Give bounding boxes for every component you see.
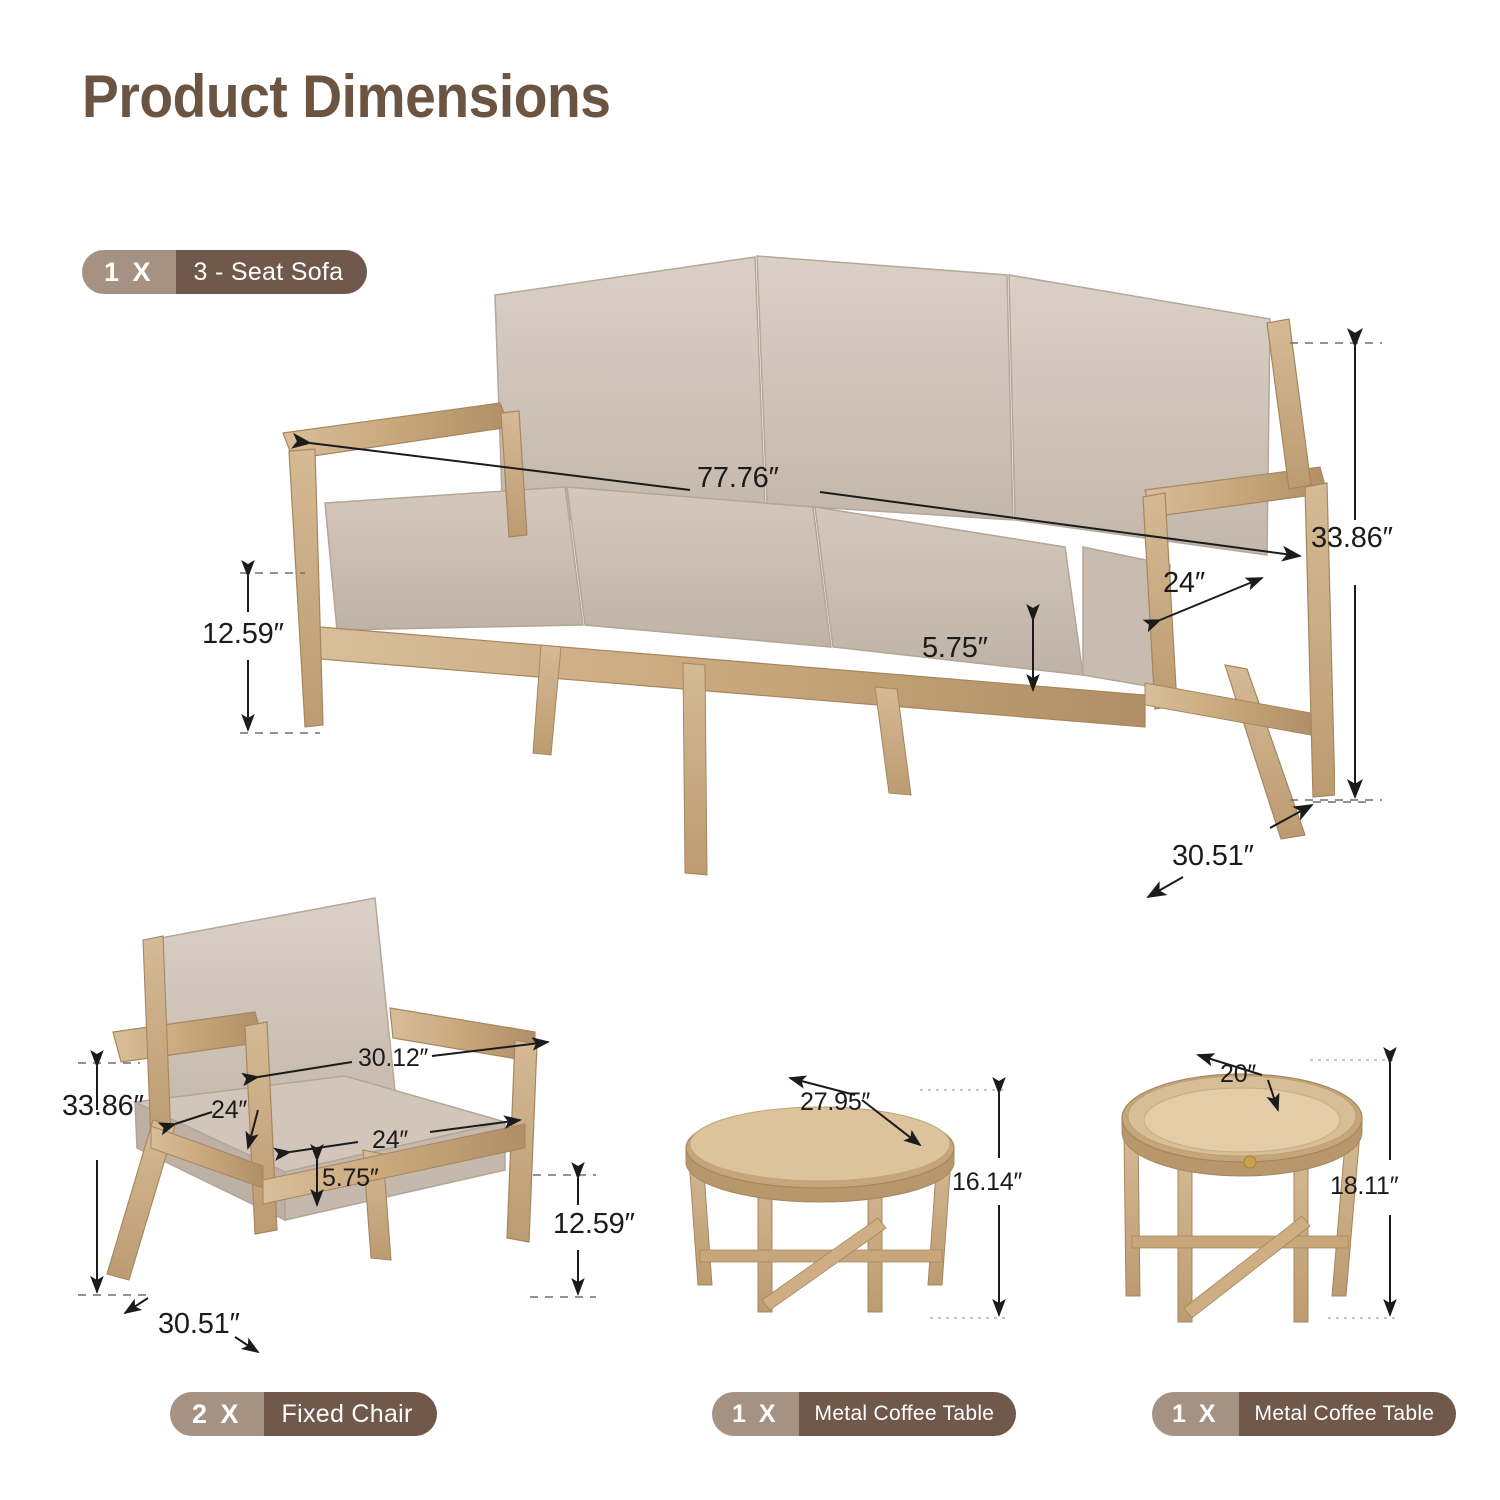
- sofa-height-label: 33.86″: [1311, 522, 1393, 555]
- sofa-illustration: [265, 235, 1335, 895]
- sofa-leg-height-label: 12.59″: [202, 618, 284, 651]
- sofa-width-label: 77.76″: [697, 462, 779, 495]
- badge-coffee-table-qty: 1 X: [712, 1392, 799, 1436]
- chair-cushion-label: 5.75″: [322, 1164, 379, 1193]
- chair-height-label: 33.86″: [62, 1090, 144, 1123]
- chair-width-label: 30.12″: [358, 1044, 428, 1073]
- badge-side-table: 1 X Metal Coffee Table: [1152, 1392, 1456, 1436]
- chair-seat-depth-label: 24″: [211, 1096, 247, 1125]
- badge-side-table-name: Metal Coffee Table: [1239, 1392, 1457, 1436]
- product-dimensions-page: Product Dimensions: [0, 0, 1500, 1500]
- badge-chair-name: Fixed Chair: [264, 1392, 437, 1436]
- badge-chair-qty: 2 X: [170, 1392, 264, 1436]
- chair-depth-label: 30.51″: [158, 1308, 240, 1341]
- badge-sofa-qty: 1 X: [82, 250, 176, 294]
- chair-leg-height-label: 12.59″: [553, 1208, 635, 1241]
- sofa-cushion-label: 5.75″: [922, 632, 988, 665]
- badge-coffee-table: 1 X Metal Coffee Table: [712, 1392, 1016, 1436]
- page-title: Product Dimensions: [82, 62, 610, 131]
- chair-seat-width-label: 24″: [372, 1126, 408, 1155]
- badge-sofa: 1 X 3 - Seat Sofa: [82, 250, 367, 294]
- badge-side-table-qty: 1 X: [1152, 1392, 1239, 1436]
- sofa-depth-label: 30.51″: [1172, 840, 1254, 873]
- sofa-seat-depth-label: 24″: [1163, 567, 1205, 600]
- badge-coffee-table-name: Metal Coffee Table: [799, 1392, 1017, 1436]
- side-table-height-label: 18.11″: [1330, 1172, 1398, 1201]
- chair-illustration: [105, 880, 555, 1320]
- side-table-diameter-label: 20″: [1220, 1060, 1256, 1089]
- badge-chair: 2 X Fixed Chair: [170, 1392, 437, 1436]
- coffee-table-diameter-label: 27.95″: [800, 1088, 870, 1117]
- coffee-table-height-label: 16.14″: [952, 1168, 1022, 1197]
- badge-sofa-name: 3 - Seat Sofa: [176, 250, 368, 294]
